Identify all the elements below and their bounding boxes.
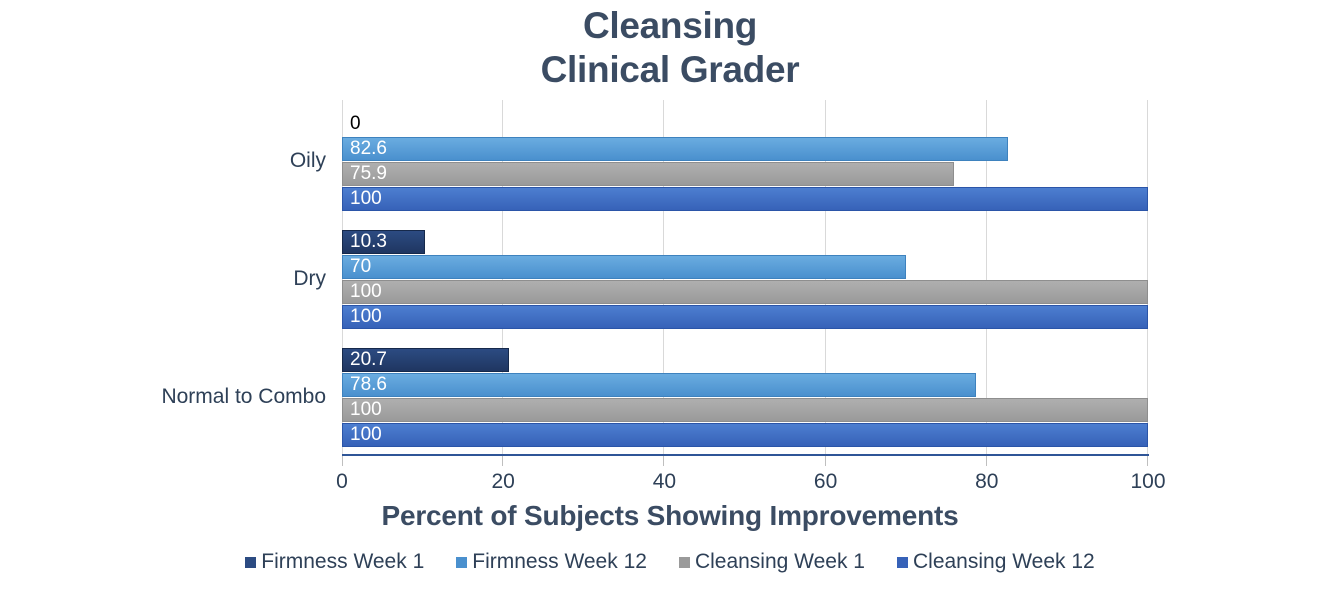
bar[interactable]	[342, 305, 1148, 329]
tick-mark-80	[986, 455, 987, 466]
bar[interactable]	[342, 398, 1148, 422]
bar-row: 75.9	[342, 162, 1148, 186]
legend-label: Firmness Week 12	[472, 550, 647, 574]
bar-data-label: 100	[350, 280, 382, 304]
bar-data-label: 70	[350, 255, 371, 279]
x-tick-label-0: 0	[312, 470, 372, 494]
bar-data-label: 100	[350, 187, 382, 211]
bar-row: 82.6	[342, 137, 1148, 161]
legend-label: Cleansing Week 1	[695, 550, 865, 574]
chart-title-line-1: Cleansing	[0, 4, 1340, 48]
tick-mark-40	[663, 455, 664, 466]
bar[interactable]	[342, 373, 976, 397]
bar-data-label: 82.6	[350, 137, 387, 161]
x-tick-label-20: 20	[473, 470, 533, 494]
bar-row: 100	[342, 398, 1148, 422]
bar-cluster-normal-to-combo: 20.778.6100100	[342, 348, 1148, 448]
chart-container: Cleansing Clinical Grader 082.675.910010…	[0, 0, 1340, 600]
legend-item-cleansing-week-12[interactable]: Cleansing Week 12	[897, 550, 1095, 574]
chart-title-line-2: Clinical Grader	[0, 48, 1340, 92]
x-tick-label-60: 60	[796, 470, 856, 494]
legend-swatch-icon	[679, 557, 690, 568]
bar[interactable]	[342, 255, 906, 279]
plot-area: 082.675.910010.37010010020.778.6100100	[342, 100, 1148, 455]
tick-mark-20	[502, 455, 503, 466]
bar-row: 70	[342, 255, 1148, 279]
category-label-oily: Oily	[290, 149, 326, 173]
bar-row: 100	[342, 305, 1148, 329]
bar-data-label: 10.3	[350, 230, 387, 254]
bar-data-label: 20.7	[350, 348, 387, 372]
bar-data-label: 75.9	[350, 162, 387, 186]
bar[interactable]	[342, 280, 1148, 304]
chart-legend: Firmness Week 1Firmness Week 12Cleansing…	[0, 550, 1340, 574]
bar-row: 20.7	[342, 348, 1148, 372]
bar-row: 0	[342, 112, 1148, 136]
x-tick-label-80: 80	[957, 470, 1017, 494]
chart-title: Cleansing Clinical Grader	[0, 4, 1340, 92]
bar-data-label: 100	[350, 423, 382, 447]
bar[interactable]	[342, 137, 1008, 161]
legend-swatch-icon	[456, 557, 467, 568]
bar-data-label: 78.6	[350, 373, 387, 397]
bar-row: 100	[342, 280, 1148, 304]
bar[interactable]	[342, 162, 954, 186]
legend-swatch-icon	[245, 557, 256, 568]
legend-item-firmness-week-1[interactable]: Firmness Week 1	[245, 550, 424, 574]
legend-label: Cleansing Week 12	[913, 550, 1095, 574]
bar[interactable]	[342, 187, 1148, 211]
bar-cluster-oily: 082.675.9100	[342, 112, 1148, 212]
bar-row: 100	[342, 423, 1148, 447]
bar[interactable]	[342, 423, 1148, 447]
bar-row: 100	[342, 187, 1148, 211]
category-label-dry: Dry	[293, 267, 326, 291]
bar-data-label: 100	[350, 305, 382, 329]
tick-mark-0	[342, 455, 343, 466]
x-tick-label-40: 40	[634, 470, 694, 494]
legend-label: Firmness Week 1	[261, 550, 424, 574]
bar-row: 78.6	[342, 373, 1148, 397]
legend-item-cleansing-week-1[interactable]: Cleansing Week 1	[679, 550, 865, 574]
legend-item-firmness-week-12[interactable]: Firmness Week 12	[456, 550, 647, 574]
legend-swatch-icon	[897, 557, 908, 568]
bar-data-label: 0	[350, 112, 361, 136]
tick-mark-100	[1147, 455, 1148, 466]
category-label-normal-to-combo: Normal to Combo	[161, 385, 326, 409]
x-axis-line	[342, 454, 1149, 456]
bar-data-label: 100	[350, 398, 382, 422]
x-axis-title: Percent of Subjects Showing Improvements	[0, 500, 1340, 532]
x-tick-label-100: 100	[1118, 470, 1178, 494]
bar-cluster-dry: 10.370100100	[342, 230, 1148, 330]
tick-mark-60	[825, 455, 826, 466]
bar-row: 10.3	[342, 230, 1148, 254]
